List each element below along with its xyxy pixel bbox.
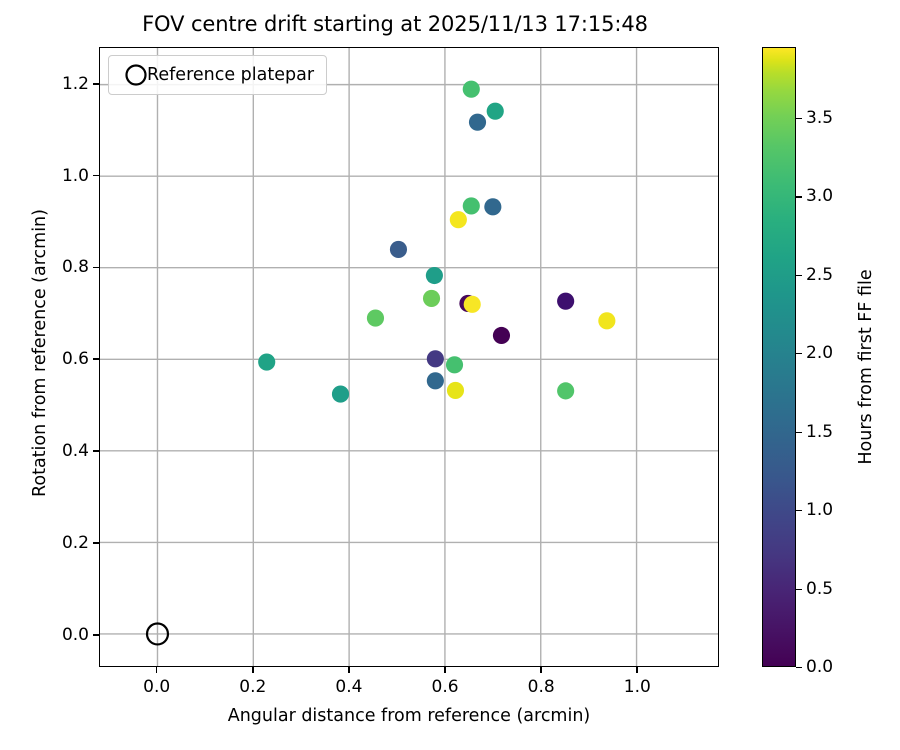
data-point [598, 312, 615, 329]
x-tick-mark [540, 667, 542, 673]
data-point [493, 327, 510, 344]
data-point [427, 372, 444, 389]
data-point [390, 241, 407, 258]
data-point [469, 114, 486, 131]
y-tick-mark [93, 358, 99, 360]
scatter-figure: FOV centre drift starting at 2025/11/13 … [0, 0, 900, 750]
data-point [427, 350, 444, 367]
y-tick-label: 0.6 [47, 349, 89, 369]
page-title: FOV centre drift starting at 2025/11/13 … [0, 12, 790, 36]
colorbar-gradient [762, 47, 796, 667]
data-point [426, 267, 443, 284]
y-axis-label: Rotation from reference (arcmin) [30, 43, 50, 663]
data-point [446, 356, 463, 373]
data-point [423, 290, 440, 307]
y-tick-mark [93, 175, 99, 177]
data-point [463, 81, 480, 98]
data-point [557, 382, 574, 399]
y-tick-mark [93, 634, 99, 636]
data-point [258, 353, 275, 370]
data-points-layer [100, 48, 718, 666]
data-point [557, 293, 574, 310]
x-tick-label: 1.0 [624, 677, 651, 697]
data-point [464, 296, 481, 313]
colorbar-tick-label: 0.0 [806, 657, 833, 677]
x-tick-mark [252, 667, 254, 673]
colorbar-tick-label: 3.0 [806, 186, 833, 206]
reference-platepar-point [147, 623, 168, 644]
data-point [463, 197, 480, 214]
colorbar-tick-label: 2.0 [806, 343, 833, 363]
data-point [447, 382, 464, 399]
colorbar-tick-label: 2.5 [806, 265, 833, 285]
reference-platepar-marker-icon [123, 62, 149, 88]
y-tick-label: 0.4 [47, 441, 89, 461]
x-tick-label: 0.8 [528, 677, 555, 697]
plot-area [99, 47, 719, 667]
colorbar: 0.00.51.01.52.02.53.03.5 [762, 47, 796, 667]
colorbar-tick-mark [796, 589, 802, 590]
x-tick-mark [444, 667, 446, 673]
y-tick-mark [93, 542, 99, 544]
x-tick-label: 0.0 [143, 677, 170, 697]
colorbar-tick-mark [796, 196, 802, 197]
y-tick-mark [93, 450, 99, 452]
x-tick-mark [156, 667, 158, 673]
colorbar-tick-mark [796, 432, 802, 433]
y-tick-label: 1.2 [47, 74, 89, 94]
data-point [332, 386, 349, 403]
x-tick-label: 0.2 [239, 677, 266, 697]
colorbar-tick-mark [796, 667, 802, 668]
data-point [367, 310, 384, 327]
y-tick-mark [93, 267, 99, 269]
colorbar-tick-mark [796, 510, 802, 511]
colorbar-tick-label: 1.0 [806, 500, 833, 520]
data-point [484, 198, 501, 215]
colorbar-label: Hours from first FF file [856, 57, 876, 677]
y-tick-label: 0.0 [47, 625, 89, 645]
x-tick-mark [348, 667, 350, 673]
x-tick-mark [636, 667, 638, 673]
data-point [487, 103, 504, 120]
y-tick-label: 0.2 [47, 533, 89, 553]
colorbar-tick-mark [796, 353, 802, 354]
data-point [450, 211, 467, 228]
colorbar-tick-label: 0.5 [806, 579, 833, 599]
x-tick-label: 0.4 [335, 677, 362, 697]
y-tick-label: 0.8 [47, 257, 89, 277]
colorbar-tick-label: 3.5 [806, 108, 833, 128]
y-tick-label: 1.0 [47, 166, 89, 186]
y-tick-mark [93, 83, 99, 85]
colorbar-tick-mark [796, 275, 802, 276]
colorbar-tick-label: 1.5 [806, 422, 833, 442]
x-axis-label: Angular distance from reference (arcmin) [99, 706, 719, 726]
colorbar-tick-mark [796, 118, 802, 119]
legend: Reference platepar [108, 55, 327, 95]
x-tick-label: 0.6 [432, 677, 459, 697]
